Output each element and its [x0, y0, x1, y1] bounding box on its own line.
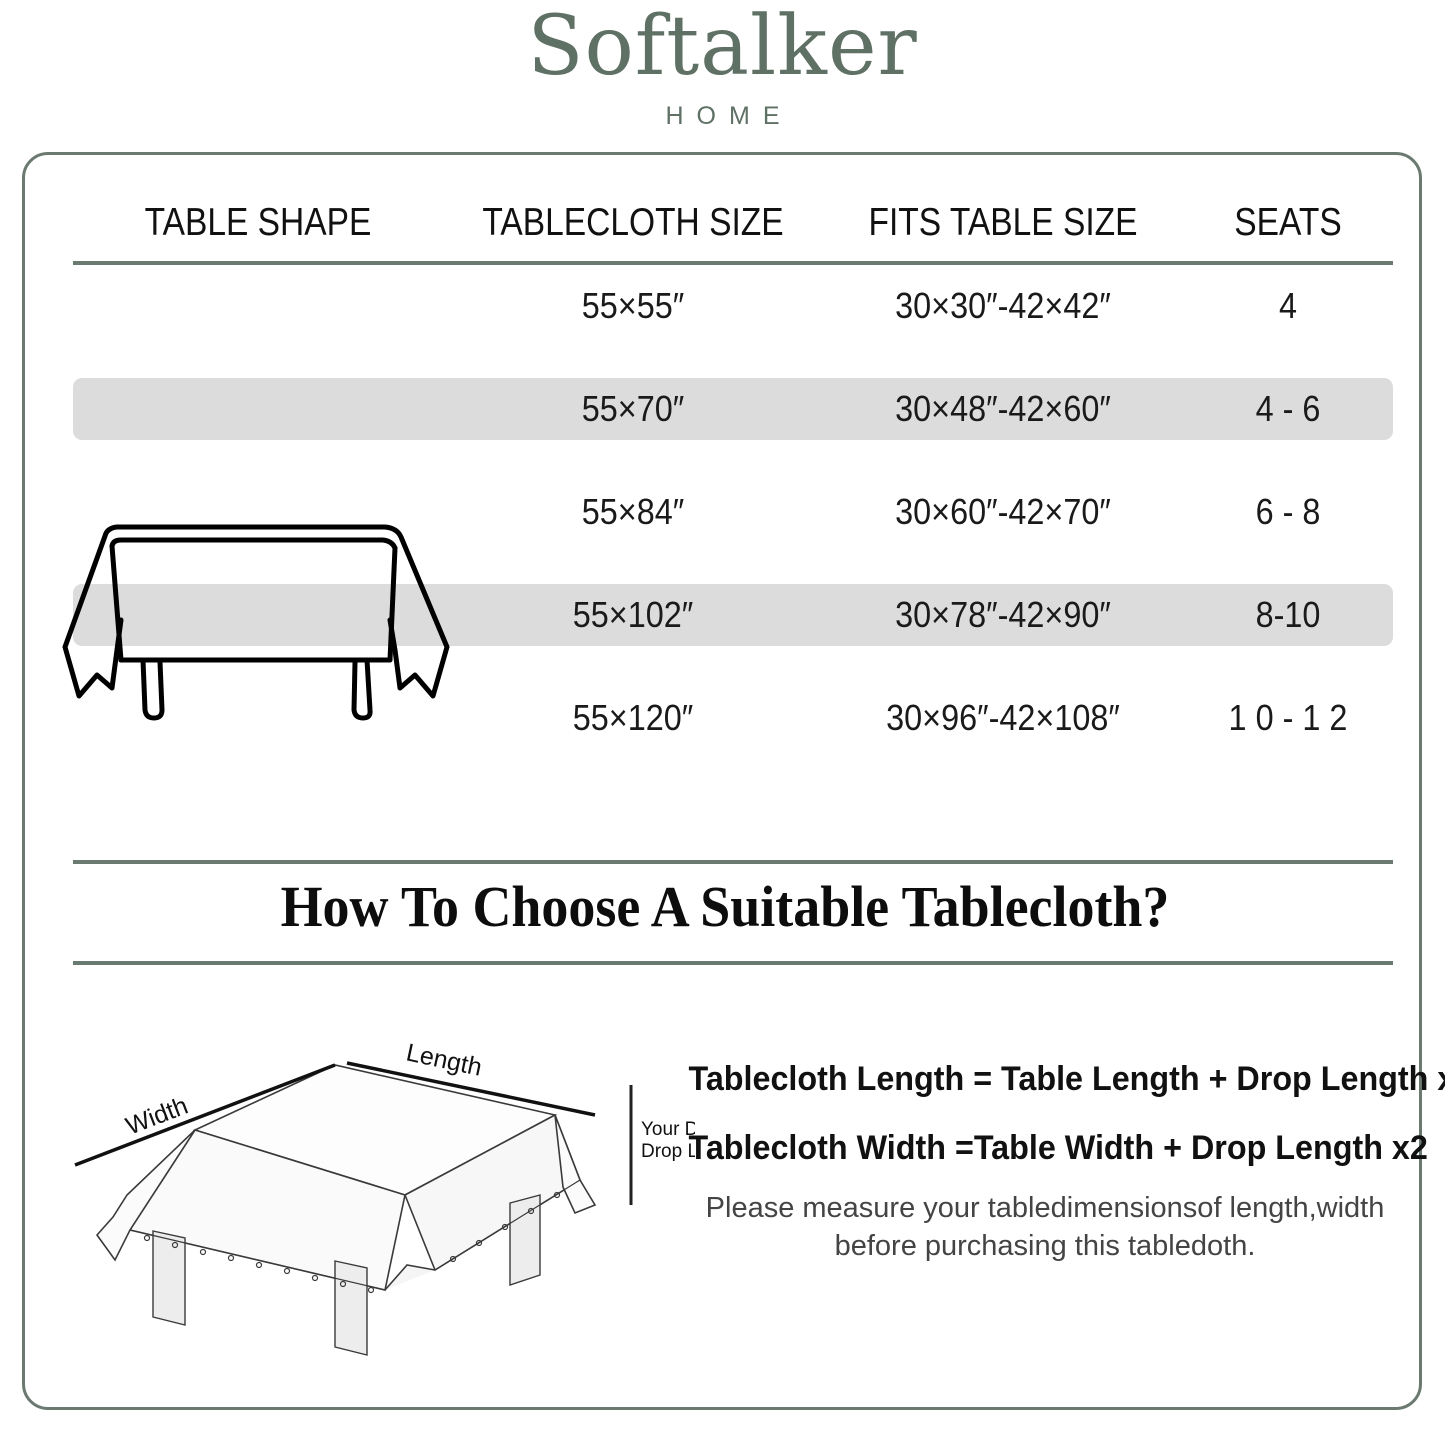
column-header-table-shape: TABLE SHAPE — [99, 201, 417, 245]
purchase-note-line-2: before purchasing this tabledoth. — [680, 1228, 1410, 1266]
cell-tablecloth-size: 55×55″ — [462, 285, 804, 327]
diagram-label-length: Length — [404, 1038, 485, 1081]
cell-seats: 4 - 6 — [1194, 388, 1383, 430]
cell-tablecloth-size: 55×102″ — [462, 594, 804, 636]
purchase-note: Please measure your tabledimensionsof le… — [680, 1190, 1410, 1265]
formula-length: Tablecloth Length = Table Length + Drop … — [689, 1060, 1392, 1099]
cell-tablecloth-size: 55×70″ — [462, 388, 804, 430]
cell-seats: 1 0 - 1 2 — [1194, 697, 1383, 739]
cell-seats: 6 - 8 — [1194, 491, 1383, 533]
cell-fits-table-size: 30×96″-42×108″ — [841, 697, 1165, 739]
brand-header: Softalker HOME — [0, 0, 1445, 150]
formula-block: Tablecloth Length = Table Length + Drop … — [670, 1060, 1410, 1198]
tablecloth-drop-diagram-icon: Width Length Your Desired Drop Length — [35, 1035, 695, 1375]
column-header-fits-table-size: FITS TABLE SIZE — [848, 201, 1158, 245]
cell-seats: 4 — [1194, 285, 1383, 327]
brand-tagline: HOME — [653, 102, 793, 131]
cell-fits-table-size: 30×48″-42×60″ — [841, 388, 1165, 430]
purchase-note-line-1: Please measure your tabledimensionsof le… — [680, 1190, 1410, 1228]
info-card: TABLE SHAPE TABLECLOTH SIZE FITS TABLE S… — [22, 152, 1422, 1410]
formula-width: Tablecloth Width =Table Width + Drop Len… — [689, 1129, 1392, 1168]
section-divider-top — [73, 860, 1393, 864]
section-divider-bottom — [73, 961, 1393, 965]
table-header-row: TABLE SHAPE TABLECLOTH SIZE FITS TABLE S… — [73, 175, 1393, 245]
cell-seats: 8-10 — [1194, 594, 1383, 636]
brand-name: Softalker — [527, 6, 917, 88]
how-to-choose-title: How To Choose A Suitable Tablecloth? — [74, 873, 1376, 940]
table-row: 55×70″ 30×48″-42×60″ 4 - 6 — [73, 378, 1393, 440]
header-divider — [73, 261, 1393, 265]
cell-tablecloth-size: 55×84″ — [462, 491, 804, 533]
column-header-seats: SEATS — [1198, 201, 1379, 245]
cell-fits-table-size: 30×30″-42×42″ — [841, 285, 1165, 327]
cell-tablecloth-size: 55×120″ — [462, 697, 804, 739]
table-row: 55×55″ 30×30″-42×42″ 4 — [73, 275, 1393, 337]
cell-fits-table-size: 30×60″-42×70″ — [841, 491, 1165, 533]
table-shape-illustration-icon — [55, 500, 455, 730]
cell-fits-table-size: 30×78″-42×90″ — [841, 594, 1165, 636]
column-header-tablecloth-size: TABLECLOTH SIZE — [470, 201, 797, 245]
